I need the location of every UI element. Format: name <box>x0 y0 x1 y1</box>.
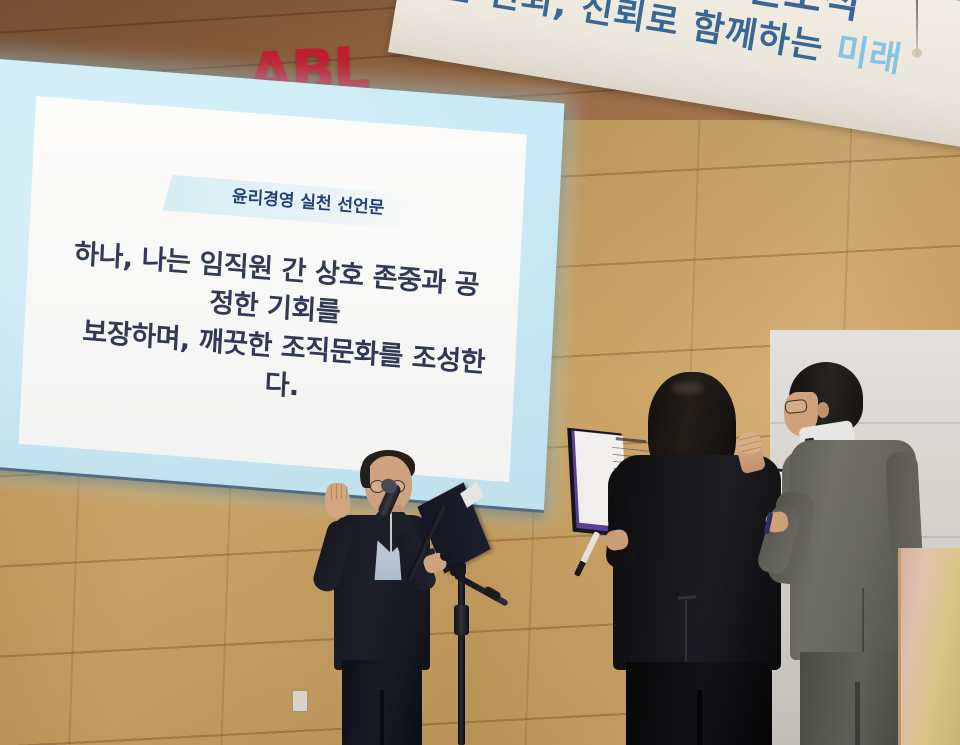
banner-wire-anchor <box>912 48 922 58</box>
wooden-podium-edge <box>898 548 960 745</box>
mic-stand-clutch <box>454 605 469 635</box>
slide-canvas: 윤리경영 실천 선언문 하나, 나는 임직원 간 상호 존중과 공정한 기회를 … <box>19 96 527 482</box>
man-ear <box>817 402 829 418</box>
presentation-hall-photo: ABL I한 윤리경영 실천 선포식 !은 신뢰, 신뢰로 함께하는 미래 윤리… <box>0 0 960 745</box>
woman-suit-jacket <box>613 455 781 670</box>
speaker-raised-hand-fingers <box>327 483 348 499</box>
woman-left-arm <box>605 489 640 569</box>
slide-body: 하나, 나는 임직원 간 상호 존중과 공정한 기회를 보장하며, 깨끗한 조직… <box>55 235 492 422</box>
woman-jacket-vent <box>685 600 687 662</box>
speaker-sideburn <box>360 462 370 488</box>
man-leg-seam <box>855 682 860 745</box>
wall-outlet <box>292 690 308 712</box>
woman-leg-seam <box>697 690 702 745</box>
mic-boom-knob <box>440 550 451 561</box>
mic-stand-pole <box>458 568 465 745</box>
banner-subline-part-a: !은 신뢰 <box>423 0 558 23</box>
man-jacket-vent <box>862 588 864 654</box>
woman-hair-highlight <box>672 382 702 394</box>
speaker-leg-seam <box>380 690 384 745</box>
man-glasses <box>784 399 807 414</box>
banner-subline-highlight: 미래 <box>833 30 905 80</box>
man-right-arm <box>885 451 923 563</box>
projection-screen: 윤리경영 실천 선언문 하나, 나는 임직원 간 상호 존중과 공정한 기회를 … <box>0 58 564 513</box>
